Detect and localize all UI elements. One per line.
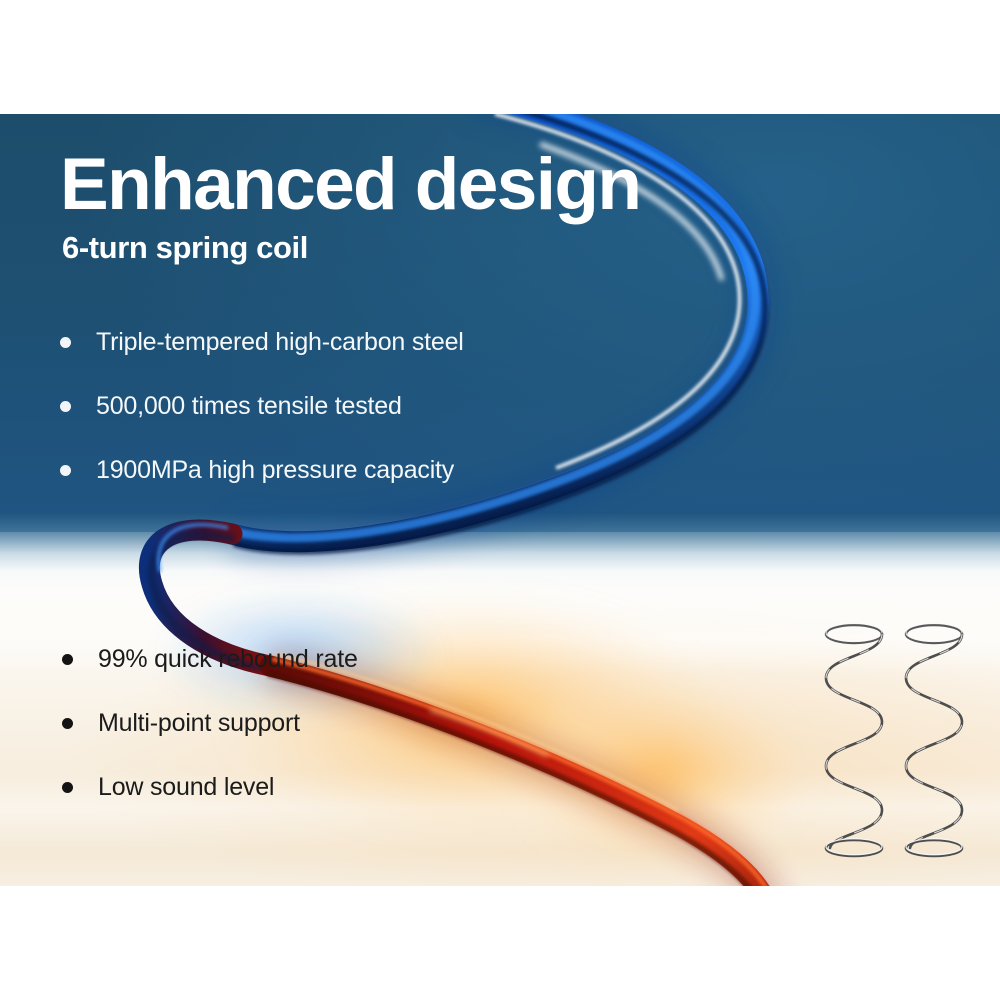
list-item-label: 99% quick rebound rate <box>98 647 358 672</box>
list-item-label: Triple-tempered high-carbon steel <box>96 330 464 355</box>
bullet-dot-icon <box>60 465 71 476</box>
page-title: Enhanced design <box>60 148 640 221</box>
bullet-dot-icon <box>62 718 73 729</box>
feature-list-top: Triple-tempered high-carbon steel 500,00… <box>60 310 580 502</box>
list-item: 99% quick rebound rate <box>62 627 502 691</box>
list-item-label: Multi-point support <box>98 711 300 736</box>
list-item: 500,000 times tensile tested <box>60 374 580 438</box>
bullet-dot-icon <box>62 782 73 793</box>
bullet-dot-icon <box>60 337 71 348</box>
banner-canvas: Enhanced design 6-turn spring coil Tripl… <box>0 0 1000 1000</box>
bullet-dot-icon <box>60 401 71 412</box>
page-subtitle: 6-turn spring coil <box>62 232 308 263</box>
feature-list-bottom: 99% quick rebound rate Multi-point suppo… <box>62 627 502 819</box>
list-item: Low sound level <box>62 755 502 819</box>
list-item: Triple-tempered high-carbon steel <box>60 310 580 374</box>
list-item: Multi-point support <box>62 691 502 755</box>
bullet-dot-icon <box>62 654 73 665</box>
content-panel: Enhanced design 6-turn spring coil Tripl… <box>0 114 1000 886</box>
background-transition <box>0 512 1000 592</box>
list-item-label: 500,000 times tensile tested <box>96 394 402 419</box>
list-item-label: 1900MPa high pressure capacity <box>96 458 454 483</box>
list-item-label: Low sound level <box>98 775 274 800</box>
list-item: 1900MPa high pressure capacity <box>60 438 580 502</box>
